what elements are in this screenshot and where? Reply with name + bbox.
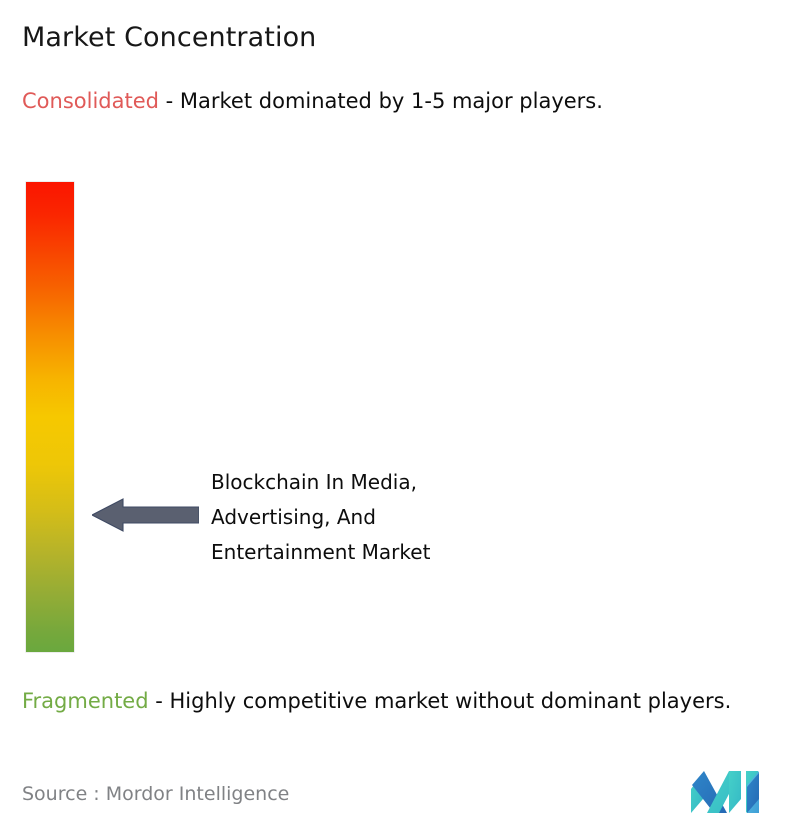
market-name-line-2: Advertising, And	[211, 500, 611, 535]
source-value: Mordor Intelligence	[106, 783, 290, 805]
arrow-left-icon	[92, 497, 199, 533]
source-line: Source : Mordor Intelligence	[22, 781, 289, 807]
market-concentration-chart: Market Concentration Consolidated - Mark…	[0, 0, 796, 834]
market-name-line-3: Entertainment Market	[211, 535, 611, 570]
consolidated-label: Consolidated	[22, 89, 159, 113]
concentration-gradient-bar	[26, 182, 74, 652]
consolidated-description: - Market dominated by 1-5 major players.	[159, 89, 603, 113]
market-name-label: Blockchain In Media, Advertising, And En…	[211, 465, 611, 570]
market-name-line-1: Blockchain In Media,	[211, 465, 611, 500]
consolidated-caption: Consolidated - Market dominated by 1-5 m…	[22, 86, 774, 117]
page-title: Market Concentration	[22, 20, 316, 56]
fragmented-caption: Fragmented - Highly competitive market w…	[22, 686, 784, 717]
mordor-intelligence-logo	[689, 769, 769, 815]
source-label: Source :	[22, 783, 100, 805]
fragmented-description: - Highly competitive market without domi…	[149, 689, 732, 713]
fragmented-label: Fragmented	[22, 689, 149, 713]
